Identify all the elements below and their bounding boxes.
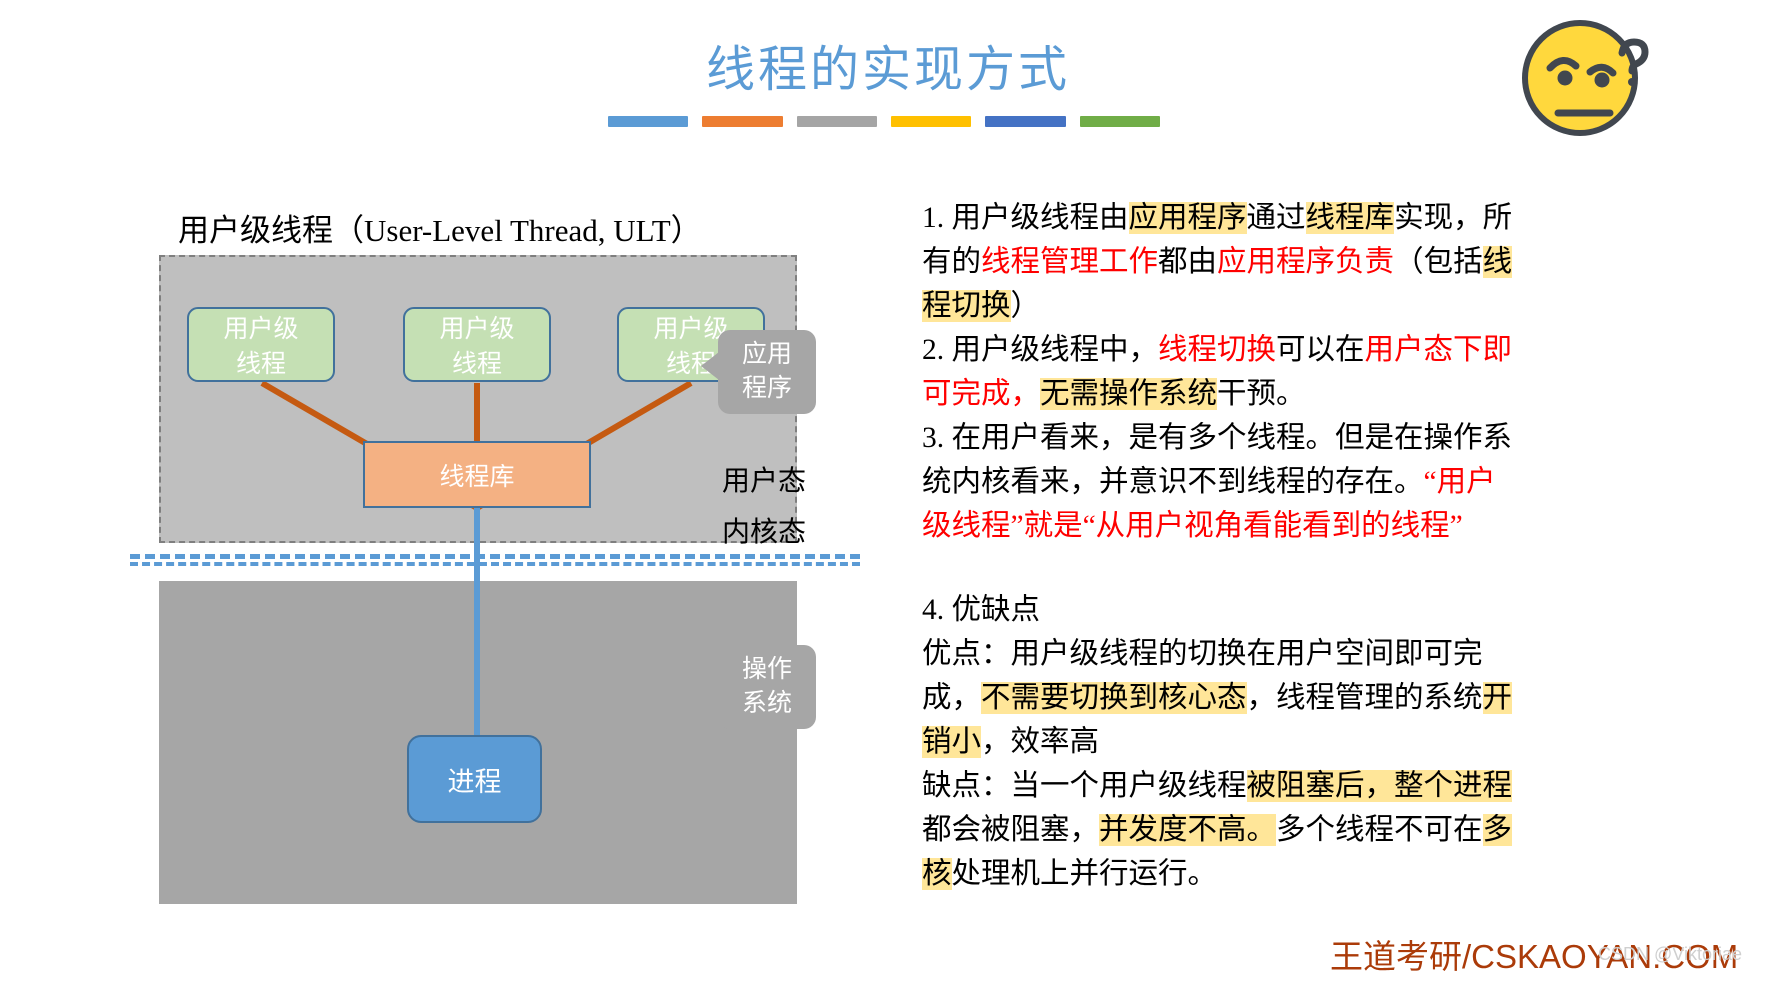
kernel-mode-label: 内核态 <box>722 510 806 550</box>
user-kernel-divider-second <box>130 562 860 566</box>
csdn-watermark: CSDN @Viktoriae <box>1598 944 1742 965</box>
note-segment: 处理机上并行运行。 <box>952 858 1218 890</box>
thread-box-2: 用户级 线程 <box>403 307 551 382</box>
note-segment: 无需操作系统 <box>1040 378 1217 410</box>
note-segment: ） <box>1011 290 1041 322</box>
note-number: 2. <box>922 334 952 366</box>
note-segment: 用户级线程由 <box>952 202 1129 234</box>
callout-operating-system: 操作 系统 <box>718 645 816 729</box>
notes-column: 1. 用户级线程由应用程序通过线程库实现，所有的线程管理工作都由应用程序负责（包… <box>922 196 1522 896</box>
note-segment: 通过 <box>1247 202 1306 234</box>
note-item-1: 1. 用户级线程由应用程序通过线程库实现，所有的线程管理工作都由应用程序负责（包… <box>922 196 1522 328</box>
note-segment: 被阻塞后， <box>1247 770 1395 802</box>
note-segment: 不需要切换到核心态 <box>981 682 1247 714</box>
note-item-4: 4. 优缺点优点：用户级线程的切换在用户空间即可完成，不需要切换到核心态，线程管… <box>922 588 1522 896</box>
note-segment: 用户级线程中， <box>952 334 1159 366</box>
note-segment: ，效率高 <box>981 726 1099 758</box>
accent-bar-4 <box>891 116 971 127</box>
note-number: 1. <box>922 202 952 234</box>
note-segment: （包括 <box>1394 246 1483 278</box>
note-segment: 线程切换 <box>1158 334 1276 366</box>
user-mode-label: 用户态 <box>722 459 806 499</box>
note-segment: 线程管理工作 <box>981 246 1158 278</box>
thread-box-1: 用户级 线程 <box>187 307 335 382</box>
user-kernel-divider <box>130 554 860 559</box>
note-item-3: 3. 在用户看来，是有多个线程。但是在操作系统内核看来，并意识不到线程的存在。“… <box>922 416 1522 548</box>
accent-bar-6 <box>1080 116 1160 127</box>
note-segment: 可以在 <box>1276 334 1365 366</box>
callout-application-program: 应用 程序 <box>718 330 816 414</box>
thread-box-1-line1: 用户级 <box>189 312 333 347</box>
note-segment: 缺点：当一个用户级线程 <box>922 770 1247 802</box>
process-box: 进程 <box>407 735 542 823</box>
thread-box-2-line2: 线程 <box>405 347 549 382</box>
note-segment: 线程库 <box>1306 202 1395 234</box>
note-cons: 缺点：当一个用户级线程被阻塞后，整个进程都会被阻塞，并发度不高。多个线程不可在多… <box>922 764 1522 896</box>
note-subtitle: 优缺点 <box>952 594 1041 626</box>
note-segment: 都会被阻塞， <box>922 814 1099 846</box>
notes-spacer <box>922 548 1522 588</box>
note-item-2: 2. 用户级线程中，线程切换可以在用户态下即可完成，无需操作系统干预。 <box>922 328 1522 416</box>
note-segment: 并发度不高。 <box>1099 814 1276 846</box>
ult-diagram: 用户级线程（User-Level Thread, ULT） 用户级 线程 用户级… <box>0 0 900 992</box>
note-pros: 优点：用户级线程的切换在用户空间即可完成，不需要切换到核心态，线程管理的系统开销… <box>922 632 1522 764</box>
callout-os-line1: 操作 <box>732 653 802 687</box>
note-segment: ，线程管理的系统 <box>1247 682 1483 714</box>
thread-box-1-line2: 线程 <box>189 347 333 382</box>
note-segment: 干预。 <box>1217 378 1306 410</box>
callout-app-line1: 应用 <box>732 338 802 372</box>
diagram-heading: 用户级线程（User-Level Thread, ULT） <box>178 205 702 250</box>
note-segment: 应用程序负责 <box>1217 246 1394 278</box>
note-segment: 多个线程不可在 <box>1276 814 1483 846</box>
slide-root: 线程的实现方式 用户级线程（User-Level Thread, ULT） <box>0 0 1776 992</box>
note-segment: 都由 <box>1158 246 1217 278</box>
note-segment: 应用程序 <box>1129 202 1247 234</box>
callout-os-line2: 系统 <box>732 687 802 721</box>
thread-library-box: 线程库 <box>363 441 591 508</box>
confused-face-with-question-mark-icon <box>1518 10 1658 145</box>
accent-bar-5 <box>985 116 1065 127</box>
callout-app-line2: 程序 <box>732 372 802 406</box>
thread-box-2-line1: 用户级 <box>405 312 549 347</box>
note-number: 4. <box>922 594 952 626</box>
note-number: 3. <box>922 422 952 454</box>
note-segment: 整个进程 <box>1394 770 1512 802</box>
